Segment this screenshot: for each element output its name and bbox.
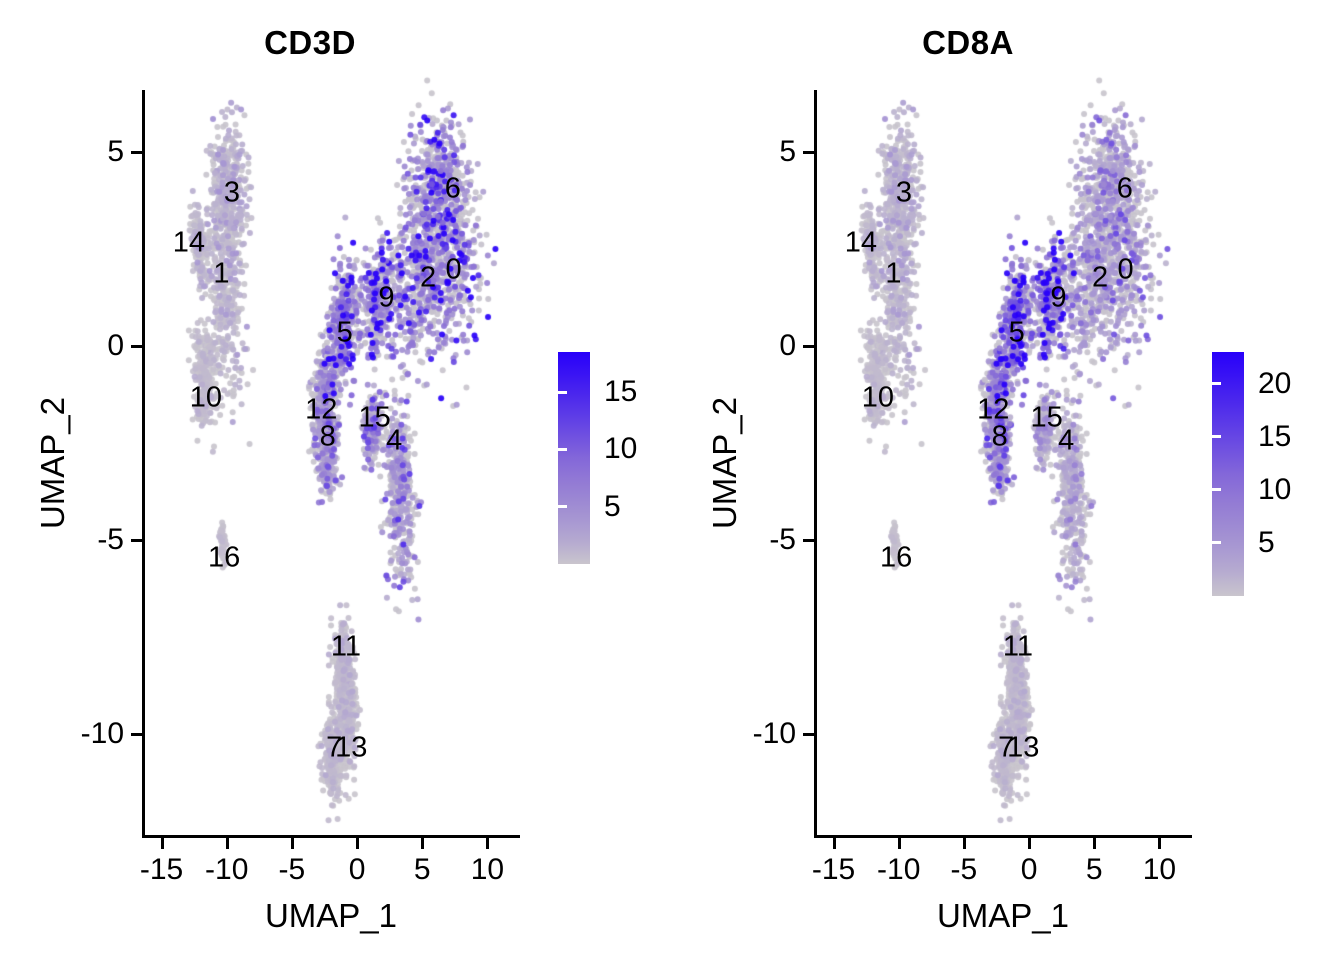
cluster-label-9: 9: [378, 281, 394, 314]
y-tick-label: -10: [714, 717, 796, 751]
colorbar-tick-label: 5: [1258, 526, 1275, 560]
y-tick-label: 5: [42, 135, 124, 169]
cluster-label-16: 16: [880, 541, 912, 574]
x-tick: [291, 838, 294, 849]
cluster-label-10: 10: [862, 382, 894, 415]
colorbar-tick: [558, 505, 567, 508]
cluster-label-0: 0: [1117, 254, 1133, 287]
cluster-label-5: 5: [1009, 316, 1025, 349]
cluster-label-1: 1: [213, 258, 229, 291]
y-axis-title: UMAP_2: [706, 396, 744, 528]
cluster-label-12: 12: [305, 394, 337, 427]
colorbar-tick: [651, 505, 660, 508]
x-tick: [226, 838, 229, 849]
x-tick: [356, 838, 359, 849]
x-tick: [421, 838, 424, 849]
cluster-label-14: 14: [845, 227, 877, 260]
x-tick-label: 5: [1086, 853, 1103, 887]
colorbar-tick: [1212, 541, 1221, 544]
x-tick-label: 10: [1143, 853, 1176, 887]
x-tick: [1093, 838, 1096, 849]
y-tick: [803, 733, 814, 736]
x-tick-label: -5: [951, 853, 978, 887]
colorbar-gradient: [1212, 352, 1244, 596]
x-tick-label: 0: [1021, 853, 1038, 887]
x-tick-label: -15: [812, 853, 855, 887]
colorbar-tick: [651, 448, 660, 451]
colorbar-tick: [1305, 382, 1314, 385]
x-tick: [963, 838, 966, 849]
cluster-label-11: 11: [331, 630, 361, 663]
y-tick-label: -10: [42, 717, 124, 751]
colorbar-tick: [1212, 488, 1221, 491]
figure-root: CD3D -15-10-5051050-5-10UMAP_1UMAP_20123…: [0, 0, 1344, 960]
colorbar-tick-label: 20: [1258, 367, 1291, 401]
y-axis-title: UMAP_2: [34, 396, 72, 528]
colorbar-legend: 5101520: [1212, 352, 1314, 596]
colorbar-tick-label: 15: [604, 375, 637, 409]
x-tick-label: -10: [877, 853, 920, 887]
cluster-label-3: 3: [896, 176, 912, 209]
y-tick: [803, 151, 814, 154]
x-tick-label: 0: [349, 853, 366, 887]
x-tick-label: -5: [279, 853, 306, 887]
cluster-label-14: 14: [173, 227, 205, 260]
cluster-label-0: 0: [445, 254, 461, 287]
panel-cd8a: CD8A -15-10-5051050-5-10UMAP_1UMAP_20123…: [672, 0, 1344, 960]
y-tick: [803, 539, 814, 542]
colorbar-tick-label: 10: [604, 432, 637, 466]
colorbar-tick: [1305, 541, 1314, 544]
colorbar-tick-label: 15: [1258, 420, 1291, 454]
colorbar-tick: [1305, 435, 1314, 438]
cluster-label-13: 13: [1007, 731, 1039, 764]
cluster-label-1: 1: [885, 258, 901, 291]
cluster-label-6: 6: [445, 172, 461, 205]
y-tick: [131, 151, 142, 154]
x-tick-label: 10: [471, 853, 504, 887]
y-tick: [131, 733, 142, 736]
cluster-label-15: 15: [359, 401, 391, 434]
colorbar-tick: [1212, 435, 1221, 438]
x-tick: [1158, 838, 1161, 849]
x-tick: [486, 838, 489, 849]
colorbar-tick-label: 10: [1258, 473, 1291, 507]
cluster-label-3: 3: [224, 176, 240, 209]
y-tick: [131, 345, 142, 348]
cluster-label-2: 2: [420, 262, 436, 295]
colorbar-tick: [1212, 382, 1221, 385]
colorbar-tick-label: 5: [604, 490, 621, 524]
x-tick: [898, 838, 901, 849]
y-tick-label: 0: [42, 329, 124, 363]
cluster-label-15: 15: [1031, 401, 1063, 434]
y-tick: [131, 539, 142, 542]
colorbar-legend: 51015: [558, 352, 660, 564]
y-tick-label: 5: [714, 135, 796, 169]
x-axis-line: [814, 835, 1192, 838]
colorbar-gradient: [558, 352, 590, 564]
cluster-label-2: 2: [1092, 262, 1108, 295]
cluster-label-6: 6: [1117, 172, 1133, 205]
cluster-label-12: 12: [977, 394, 1009, 427]
x-tick: [161, 838, 164, 849]
colorbar-tick: [1305, 488, 1314, 491]
colorbar-tick: [558, 448, 567, 451]
y-tick: [803, 345, 814, 348]
cluster-label-16: 16: [208, 541, 240, 574]
cluster-label-13: 13: [335, 731, 367, 764]
x-tick-label: 5: [414, 853, 431, 887]
x-tick-label: -15: [140, 853, 183, 887]
x-axis-line: [142, 835, 520, 838]
panel-cd3d: CD3D -15-10-5051050-5-10UMAP_1UMAP_20123…: [0, 0, 672, 960]
colorbar-tick: [558, 391, 567, 394]
x-axis-title: UMAP_1: [265, 897, 397, 935]
colorbar-tick: [651, 391, 660, 394]
x-tick: [1028, 838, 1031, 849]
x-tick-label: -10: [205, 853, 248, 887]
cluster-label-10: 10: [190, 382, 222, 415]
x-axis-title: UMAP_1: [937, 897, 1069, 935]
cluster-label-9: 9: [1050, 281, 1066, 314]
y-axis-line: [814, 90, 817, 838]
y-axis-line: [142, 90, 145, 838]
y-tick-label: 0: [714, 329, 796, 363]
cluster-label-5: 5: [337, 316, 353, 349]
x-tick: [833, 838, 836, 849]
cluster-label-11: 11: [1003, 630, 1033, 663]
